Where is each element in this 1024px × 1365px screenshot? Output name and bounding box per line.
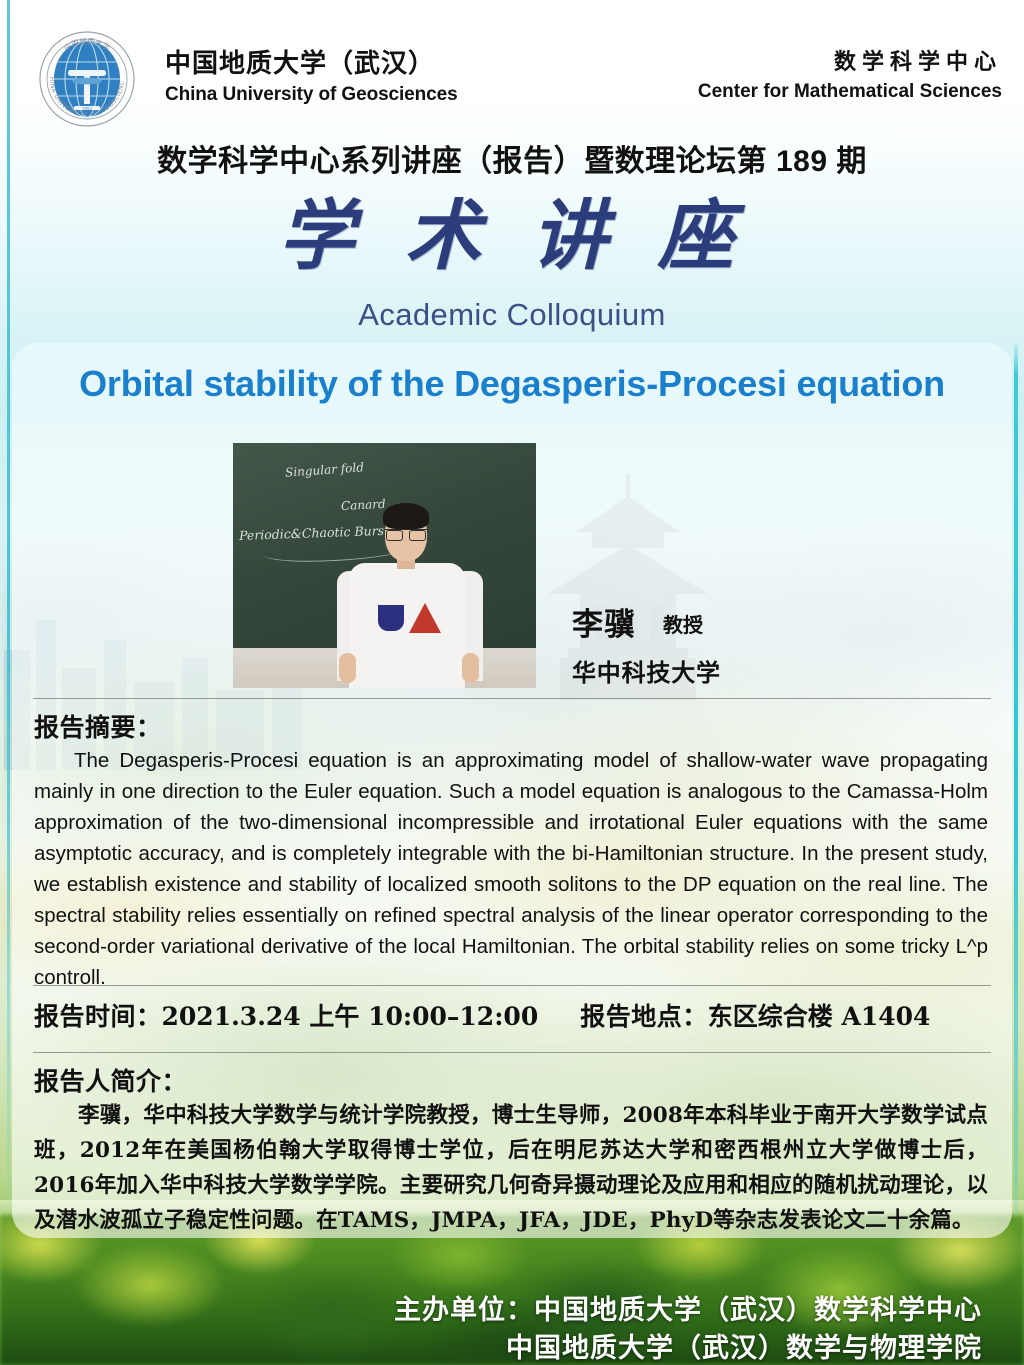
person-left-hand (339, 653, 356, 683)
svg-text:1952: 1952 (82, 107, 93, 112)
person-right-hand (462, 653, 479, 683)
organizer-line-1: 主办单位：中国地质大学（武汉）数学科学中心 (394, 1288, 982, 1327)
university-name-cn: 中国地质大学（武汉） (165, 48, 458, 80)
shirt-logo-u (378, 605, 404, 631)
poster-root: 1952 中国地质大学 CHINA UNIVERSITY OF GEOSCIEN… (0, 0, 1024, 1365)
speaker-title: 教授 (663, 609, 703, 638)
speaker-affiliation: 华中科技大学 (572, 653, 721, 688)
university-name-en: China University of Geosciences (165, 83, 458, 108)
time-value: 2021.3.24 上午 10:00–12:00 (162, 1002, 539, 1031)
center-name-block: 数学科学中心 Center for Mathematical Sciences (698, 48, 1002, 104)
shirt-logo-a (409, 603, 441, 633)
cug-university-seal-icon: 1952 中国地质大学 CHINA UNIVERSITY OF GEOSCIEN… (38, 30, 136, 128)
university-name-block: 中国地质大学（武汉） China University of Geoscienc… (165, 48, 458, 107)
left-accent-border (7, 0, 10, 1225)
abstract-body: The Degasperis-Procesi equation is an ap… (34, 745, 988, 993)
speaker-name: 李骥 (572, 599, 636, 644)
right-accent-border (1014, 340, 1018, 1225)
bio-heading: 报告人简介： (34, 1062, 187, 1098)
banner-subtitle: Academic Colloquium (0, 297, 1024, 333)
abstract-heading: 报告摘要： (34, 708, 162, 744)
person-hair (383, 503, 429, 529)
chalk-text-canard: Canard (341, 497, 386, 513)
place-value: 东区综合楼 A1404 (708, 1002, 931, 1031)
divider-above-bio (33, 1052, 991, 1053)
poster-header: 1952 中国地质大学 CHINA UNIVERSITY OF GEOSCIEN… (0, 0, 1024, 132)
calligraphy-title: 学 术 讲 座 (0, 196, 1024, 276)
organizer-line-2: 中国地质大学（武汉）数学与物理学院 (506, 1326, 982, 1365)
talk-title: Orbital stability of the Degasperis-Proc… (12, 363, 1012, 405)
person-torso (349, 563, 465, 688)
place-label: 报告地点： (580, 1002, 708, 1031)
time-label: 报告时间： (34, 1002, 162, 1031)
schedule-line: 报告时间：2021.3.24 上午 10:00–12:00报告地点：东区综合楼 … (34, 997, 988, 1033)
speaker-photo: Singular fold Canard Periodic&Chaotic Bu… (233, 443, 536, 688)
center-name-en: Center for Mathematical Sciences (698, 80, 1002, 105)
divider-above-abstract (33, 698, 991, 699)
lecture-series-line: 数学科学中心系列讲座（报告）暨数理论坛第 189 期 (0, 136, 1024, 180)
center-name-cn: 数学科学中心 (698, 48, 1002, 76)
bio-body: 李骥，华中科技大学数学与统计学院教授，博士生导师，2008年本科毕业于南开大学数… (34, 1098, 988, 1238)
glasses-icon (385, 529, 427, 539)
